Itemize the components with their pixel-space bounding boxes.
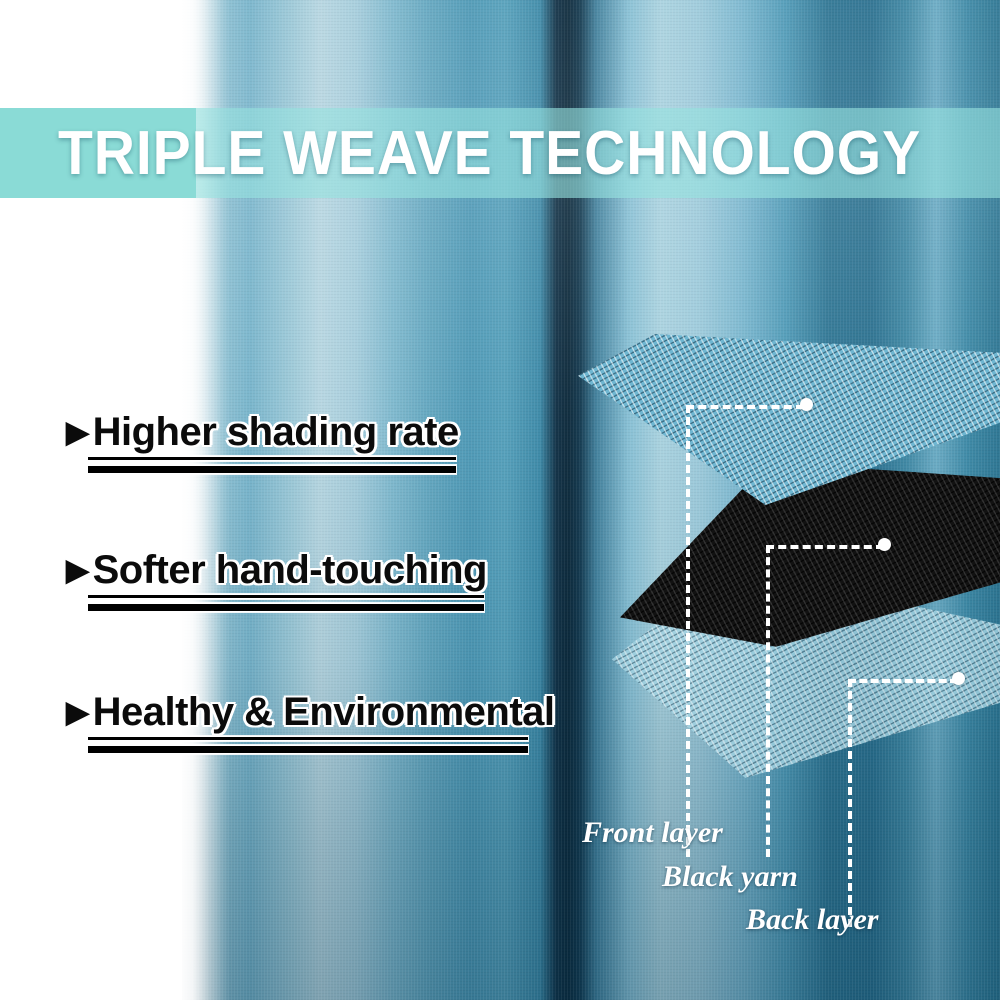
feature-underline-1 bbox=[88, 456, 456, 474]
feature-rule-thin-2 bbox=[88, 594, 484, 599]
front-layer-leader-horizontal bbox=[686, 405, 804, 409]
triangle-bullet-icon: ▶ bbox=[66, 556, 89, 586]
triangle-bullet-icon: ▶ bbox=[66, 698, 89, 728]
feature-rule-thick-1 bbox=[88, 465, 456, 474]
back-layer-leader-vertical bbox=[848, 679, 852, 927]
back-layer-label: Back layer bbox=[746, 903, 878, 937]
triangle-bullet-icon: ▶ bbox=[66, 418, 89, 448]
feature-rule-thin-3 bbox=[88, 736, 528, 741]
feature-rule-thick-2 bbox=[88, 603, 484, 612]
product-feature-image: TRIPLE WEAVE TECHNOLOGY ▶ Higher shading… bbox=[0, 0, 1000, 1000]
feature-item-3: ▶ Healthy & Environmental bbox=[66, 690, 555, 735]
feature-item-2: ▶ Softer hand-touching bbox=[66, 548, 487, 593]
feature-rule-thin-1 bbox=[88, 456, 456, 461]
page-title: TRIPLE WEAVE TECHNOLOGY bbox=[58, 108, 923, 198]
feature-underline-3 bbox=[88, 736, 528, 754]
feature-label-3: Healthy & Environmental bbox=[93, 690, 555, 735]
black-yarn-label: Black yarn bbox=[662, 860, 798, 894]
feature-item-1: ▶ Higher shading rate bbox=[66, 410, 459, 455]
front-layer-leader-vertical bbox=[686, 405, 690, 857]
feature-underline-2 bbox=[88, 594, 484, 612]
back-layer-leader-horizontal bbox=[848, 679, 958, 683]
feature-rule-thick-3 bbox=[88, 745, 528, 754]
feature-label-2: Softer hand-touching bbox=[93, 548, 487, 593]
black-yarn-leader-vertical bbox=[766, 545, 770, 857]
black-yarn-leader-horizontal bbox=[766, 545, 884, 549]
fabric-layer-diagram bbox=[560, 320, 1000, 840]
front-layer-label: Front layer bbox=[582, 816, 723, 850]
feature-label-1: Higher shading rate bbox=[93, 410, 459, 455]
